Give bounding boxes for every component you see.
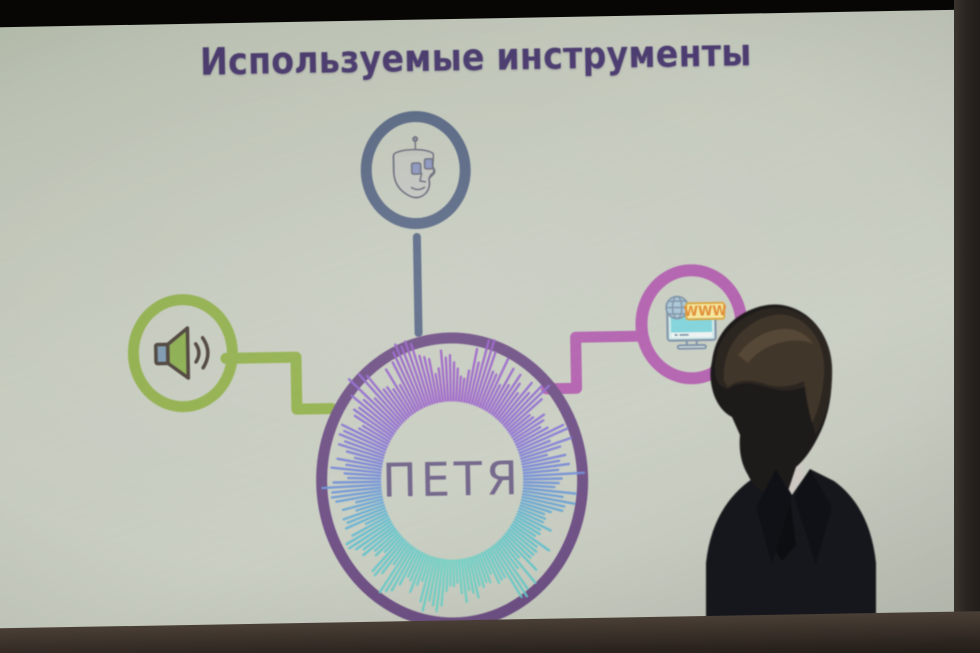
robot-head-icon [383, 135, 448, 206]
room-dark-right-band [954, 0, 980, 653]
waveform-bar [446, 358, 448, 401]
waveform-bar [450, 355, 451, 400]
waveform-bar [450, 560, 451, 585]
waveform-bar [446, 560, 449, 591]
center-node-label: ПЕТЯ [316, 450, 589, 509]
waveform-bar [456, 560, 457, 582]
projection-photo: Используемые инструменты {} [0, 0, 980, 653]
presenter-silhouette [620, 245, 980, 653]
waveform-bar [456, 369, 459, 401]
connector-robot-to-center [417, 237, 419, 333]
waveform-bar [453, 362, 455, 400]
speaker-volume-icon [147, 322, 218, 385]
voice-assistant-center[interactable]: ПЕТЯ [314, 330, 591, 631]
